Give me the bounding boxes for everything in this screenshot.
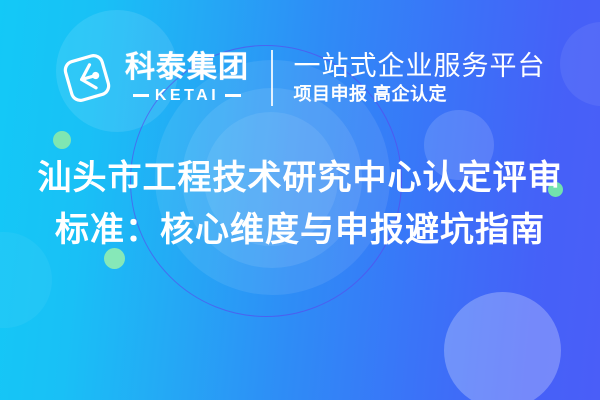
promotional-banner: 科泰集团 KETAI 一站式企业服务平台 项目申报 高企认定 汕头市工程技术研究… — [0, 0, 600, 400]
brand-name-en-row: KETAI — [133, 88, 241, 104]
banner-header: 科泰集团 KETAI 一站式企业服务平台 项目申报 高企认定 — [0, 38, 600, 118]
page-title-line-1: 汕头市工程技术研究中心认定评审 — [0, 152, 600, 204]
header-tagline: 一站式企业服务平台 项目申报 高企认定 — [294, 51, 546, 106]
brand-name-en: KETAI — [155, 88, 219, 104]
tagline-secondary: 项目申报 高企认定 — [294, 84, 546, 106]
dash-left-icon — [133, 94, 149, 97]
brand-name-cn: 科泰集团 — [125, 53, 249, 83]
tagline-primary: 一站式企业服务平台 — [294, 51, 546, 81]
decorative-circle-bottom-right — [444, 292, 561, 400]
brand-wordmark: 科泰集团 KETAI — [125, 53, 249, 104]
page-title: 汕头市工程技术研究中心认定评审 标准：核心维度与申报避坑指南 — [0, 152, 600, 256]
header-divider — [271, 50, 273, 106]
brand-logo: 科泰集团 KETAI — [60, 49, 249, 107]
dash-right-icon — [225, 94, 241, 97]
ketai-diamond-k-logo-icon — [60, 49, 114, 107]
page-title-line-2: 标准：核心维度与申报避坑指南 — [0, 204, 600, 256]
decorative-dot-upper-left — [53, 131, 71, 149]
